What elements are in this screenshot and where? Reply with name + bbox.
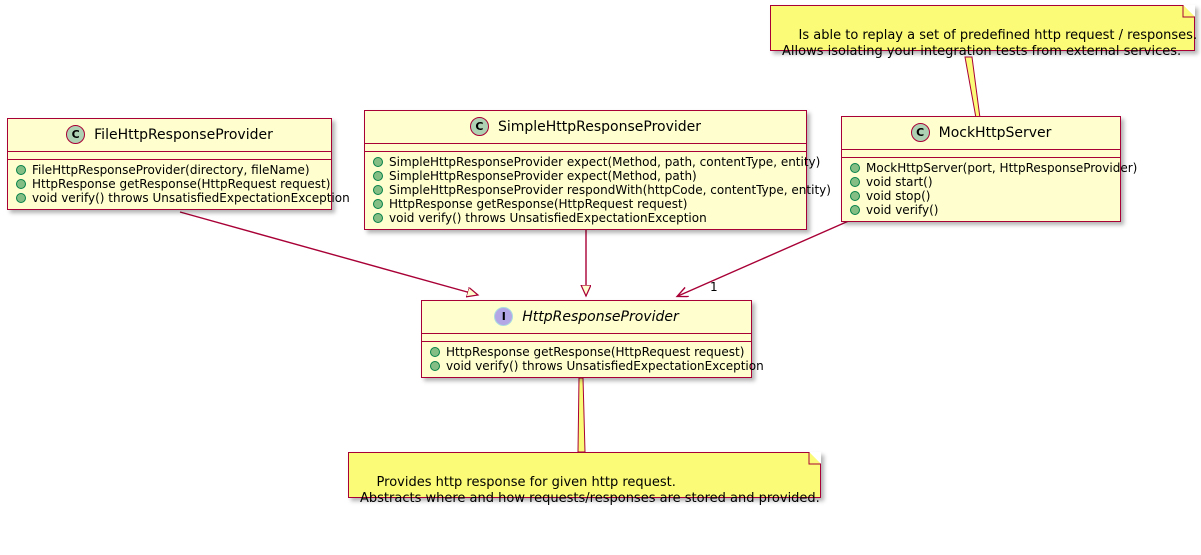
public-visibility-icon	[16, 193, 26, 203]
class-node-mock-http-server[interactable]: C MockHttpServer MockHttpServer(port, Ht…	[841, 116, 1121, 222]
method-item: HttpResponse getResponse(HttpRequest req…	[371, 197, 800, 211]
class-header: C FileHttpResponseProvider	[8, 119, 331, 152]
method-item: void stop()	[848, 189, 1114, 203]
class-badge-icon: C	[66, 125, 85, 144]
interface-header: I HttpResponseProvider	[422, 301, 751, 334]
method-signature: FileHttpResponseProvider(directory, file…	[32, 163, 310, 177]
note-mock-http-server: Is able to replay a set of predefined ht…	[770, 5, 1195, 51]
note-fold-line-icon	[1178, 5, 1195, 22]
public-visibility-icon	[850, 163, 860, 173]
method-signature: void verify() throws UnsatisfiedExpectat…	[389, 211, 707, 225]
method-signature: SimpleHttpResponseProvider expect(Method…	[389, 155, 820, 169]
method-signature: HttpResponse getResponse(HttpRequest req…	[446, 345, 744, 359]
method-signature: SimpleHttpResponseProvider expect(Method…	[389, 169, 697, 183]
method-item: HttpResponse getResponse(HttpRequest req…	[14, 177, 325, 191]
method-signature: MockHttpServer(port, HttpResponseProvide…	[866, 161, 1137, 175]
class-name: FileHttpResponseProvider	[94, 127, 273, 143]
uml-class-diagram: 1 Is able to replay a set of predefined …	[0, 0, 1201, 504]
method-signature: HttpResponse getResponse(HttpRequest req…	[32, 177, 330, 191]
public-visibility-icon	[430, 361, 440, 371]
public-visibility-icon	[16, 165, 26, 175]
class-header: C MockHttpServer	[842, 117, 1120, 150]
method-item: SimpleHttpResponseProvider expect(Method…	[371, 155, 800, 169]
connector-layer	[0, 0, 1201, 504]
method-signature: SimpleHttpResponseProvider respondWith(h…	[389, 183, 831, 197]
method-signature: void start()	[866, 175, 933, 189]
public-visibility-icon	[16, 179, 26, 189]
method-signature: HttpResponse getResponse(HttpRequest req…	[389, 197, 687, 211]
note-anchor-mock-http-server	[965, 57, 980, 118]
attributes-compartment	[422, 334, 751, 342]
class-name: MockHttpServer	[939, 125, 1052, 141]
public-visibility-icon	[850, 177, 860, 187]
class-name: SimpleHttpResponseProvider	[498, 119, 701, 135]
interface-node-http-response-provider[interactable]: I HttpResponseProvider HttpResponse getR…	[421, 300, 752, 378]
public-visibility-icon	[373, 199, 383, 209]
method-item: void start()	[848, 175, 1114, 189]
note-anchor-http-response-provider	[578, 378, 585, 452]
class-badge-icon: C	[470, 117, 489, 136]
method-item: void verify() throws UnsatisfiedExpectat…	[14, 191, 325, 205]
public-visibility-icon	[430, 347, 440, 357]
method-item: void verify()	[848, 203, 1114, 217]
note-text: Provides http response for given http re…	[360, 475, 820, 506]
method-item: FileHttpResponseProvider(directory, file…	[14, 163, 325, 177]
note-http-response-provider: Provides http response for given http re…	[348, 452, 821, 498]
method-signature: void verify()	[866, 203, 938, 217]
method-item: SimpleHttpResponseProvider expect(Method…	[371, 169, 800, 183]
method-item: HttpResponse getResponse(HttpRequest req…	[428, 345, 745, 359]
methods-compartment: HttpResponse getResponse(HttpRequest req…	[422, 342, 751, 377]
method-signature: void verify() throws UnsatisfiedExpectat…	[32, 191, 350, 205]
method-signature: void verify() throws UnsatisfiedExpectat…	[446, 359, 764, 373]
public-visibility-icon	[850, 191, 860, 201]
class-header: C SimpleHttpResponseProvider	[365, 111, 806, 144]
methods-compartment: FileHttpResponseProvider(directory, file…	[8, 160, 331, 209]
public-visibility-icon	[373, 213, 383, 223]
class-node-file-http-response-provider[interactable]: C FileHttpResponseProvider FileHttpRespo…	[7, 118, 332, 210]
method-signature: void stop()	[866, 189, 931, 203]
attributes-compartment	[365, 144, 806, 152]
public-visibility-icon	[373, 185, 383, 195]
public-visibility-icon	[850, 205, 860, 215]
interface-name: HttpResponseProvider	[522, 309, 678, 325]
interface-badge-icon: I	[494, 307, 513, 326]
public-visibility-icon	[373, 157, 383, 167]
method-item: SimpleHttpResponseProvider respondWith(h…	[371, 183, 800, 197]
note-text: Is able to replay a set of predefined ht…	[782, 28, 1197, 59]
methods-compartment: SimpleHttpResponseProvider expect(Method…	[365, 152, 806, 229]
attributes-compartment	[842, 150, 1120, 158]
method-item: MockHttpServer(port, HttpResponseProvide…	[848, 161, 1114, 175]
method-item: void verify() throws UnsatisfiedExpectat…	[371, 211, 800, 225]
class-badge-icon: C	[911, 123, 930, 142]
attributes-compartment	[8, 152, 331, 160]
note-fold-line-icon	[804, 452, 821, 469]
method-item: void verify() throws UnsatisfiedExpectat…	[428, 359, 745, 373]
methods-compartment: MockHttpServer(port, HttpResponseProvide…	[842, 158, 1120, 221]
class-node-simple-http-response-provider[interactable]: C SimpleHttpResponseProvider SimpleHttpR…	[364, 110, 807, 230]
multiplicity-label-mock-uses-provider: 1	[710, 280, 718, 294]
public-visibility-icon	[373, 171, 383, 181]
